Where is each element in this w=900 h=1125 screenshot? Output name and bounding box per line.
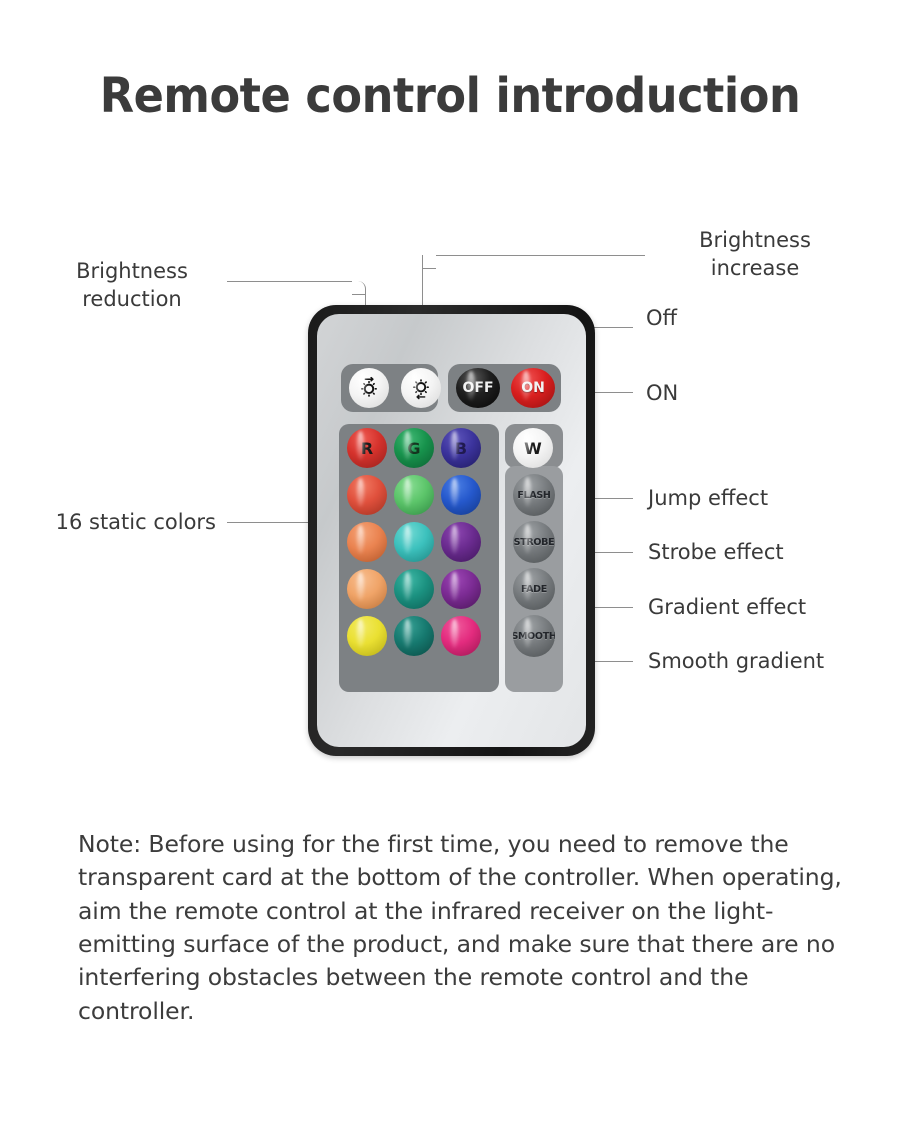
color-button-r5[interactable] [347, 616, 387, 656]
power-on-button[interactable]: ON [511, 368, 555, 408]
color-button-w[interactable]: W [513, 428, 553, 468]
color-button-g5[interactable] [394, 616, 434, 656]
callout-brightness-reduction: Brightness reduction [42, 258, 222, 313]
callout-brightness-reduction-line2: reduction [42, 286, 222, 314]
color-button-r2[interactable] [347, 475, 387, 515]
callout-jump-effect: Jump effect [648, 485, 768, 513]
brightness-down-button[interactable] [349, 368, 389, 408]
callout-off: Off [646, 305, 677, 333]
leader-elbow-brightness-increase [422, 255, 436, 269]
callout-strobe-effect: Strobe effect [648, 539, 784, 567]
sun-up-icon [408, 375, 434, 401]
callout-gradient-effect: Gradient effect [648, 594, 806, 622]
color-button-g3[interactable] [394, 522, 434, 562]
callout-brightness-reduction-line1: Brightness [42, 258, 222, 286]
remote-diagram: Brightness reduction Brightness increase… [0, 0, 900, 800]
callout-brightness-increase-line1: Brightness [645, 227, 865, 255]
leader-line-brightness-increase [600, 255, 645, 256]
usage-note: Note: Before using for the first time, y… [78, 828, 848, 1028]
callout-brightness-increase: Brightness increase [645, 227, 865, 282]
remote-control-body: OFF ON R G B W FLASH STROBE FADE [308, 305, 595, 756]
callout-brightness-increase-line2: increase [645, 255, 865, 283]
color-button-r[interactable]: R [347, 428, 387, 468]
color-button-b5[interactable] [441, 616, 481, 656]
color-button-b4[interactable] [441, 569, 481, 609]
color-button-g4[interactable] [394, 569, 434, 609]
color-button-r3[interactable] [347, 522, 387, 562]
effect-button-smooth[interactable]: SMOOTH [513, 615, 555, 657]
brightness-up-button[interactable] [401, 368, 441, 408]
leader-line-brightness-reduction [227, 281, 352, 282]
leader-line-brightness-increase-top [436, 255, 600, 256]
effect-button-strobe[interactable]: STROBE [513, 521, 555, 563]
color-button-g[interactable]: G [394, 428, 434, 468]
color-button-r4[interactable] [347, 569, 387, 609]
effect-button-fade[interactable]: FADE [513, 568, 555, 610]
color-button-b3[interactable] [441, 522, 481, 562]
color-button-g2[interactable] [394, 475, 434, 515]
color-button-b[interactable]: B [441, 428, 481, 468]
callout-static-colors: 16 static colors [10, 509, 216, 537]
effect-button-flash[interactable]: FLASH [513, 474, 555, 516]
power-off-button[interactable]: OFF [456, 368, 500, 408]
remote-face: OFF ON R G B W FLASH STROBE FADE [317, 314, 586, 747]
sun-down-icon [356, 375, 382, 401]
callout-on: ON [646, 380, 678, 408]
callout-smooth-gradient: Smooth gradient [648, 648, 824, 676]
leader-elbow-brightness-reduction [352, 281, 366, 295]
color-button-b2[interactable] [441, 475, 481, 515]
